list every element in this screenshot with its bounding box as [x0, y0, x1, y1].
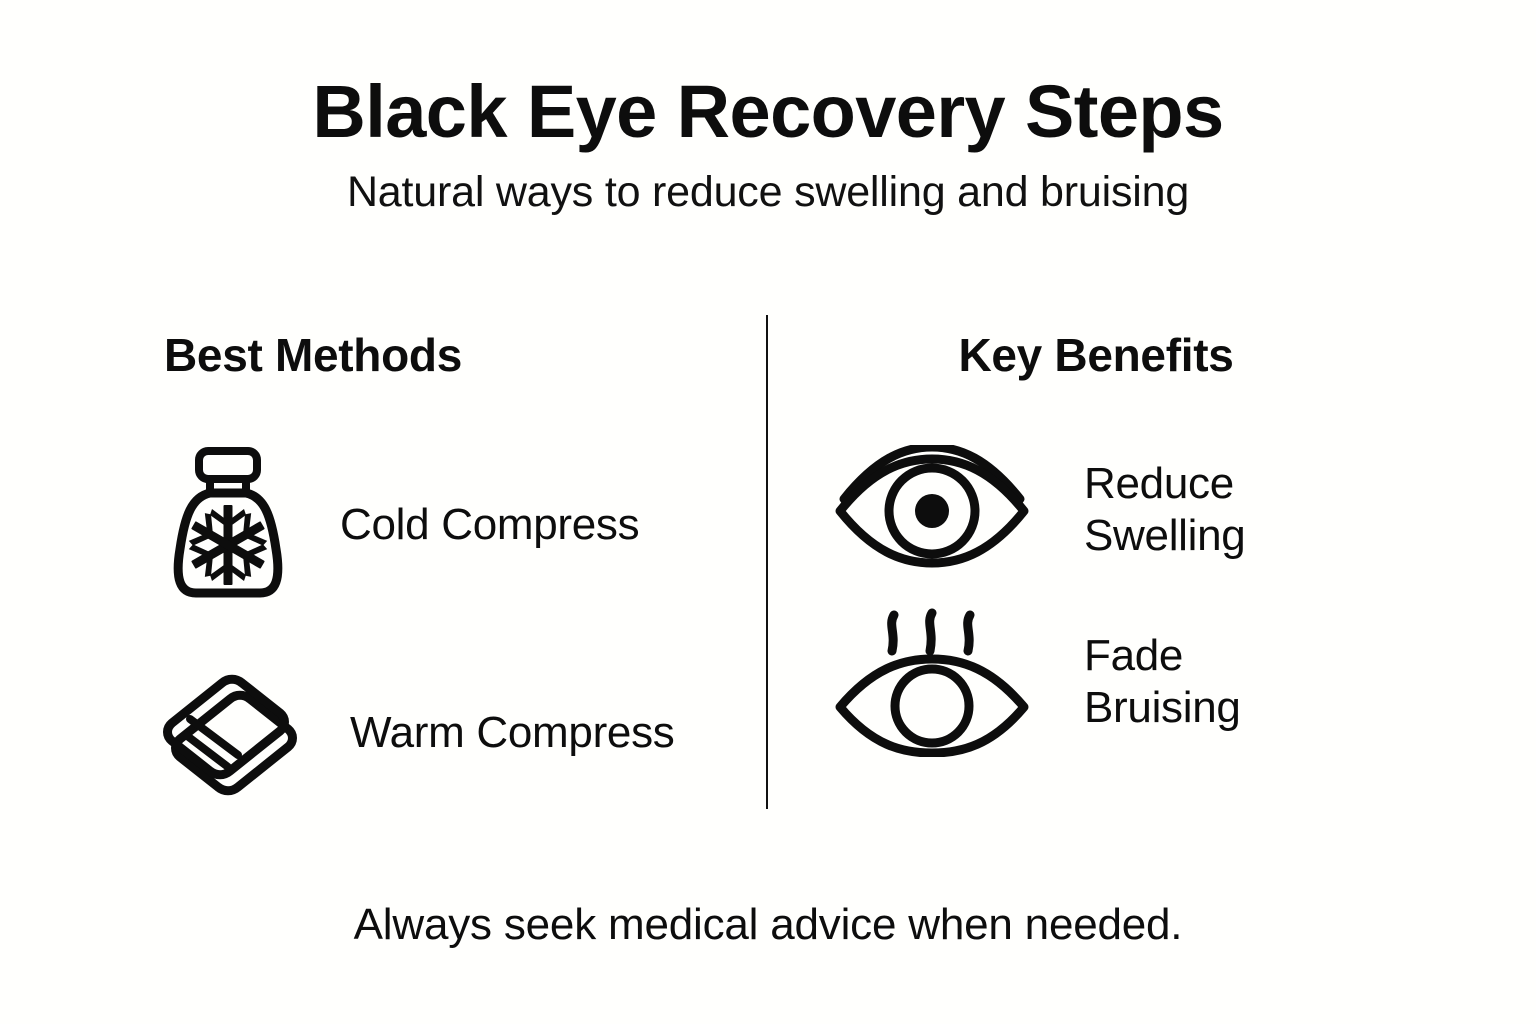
eye-lashes-icon	[832, 607, 1032, 757]
eye-open-icon	[832, 445, 1032, 575]
list-item-fade-bruising: Fade Bruising	[832, 607, 1536, 757]
list-item-label: Cold Compress	[340, 499, 639, 551]
folded-towel-icon	[158, 663, 308, 803]
list-item-label: Warm Compress	[350, 707, 675, 759]
key-benefits-list: Reduce Swelling	[766, 445, 1536, 757]
header: Black Eye Recovery Steps Natural ways to…	[0, 74, 1536, 216]
footer: Always seek medical advice when needed.	[0, 900, 1536, 950]
columns-container: Best Methods	[0, 330, 1536, 820]
list-item-label: Reduce Swelling	[1084, 458, 1314, 562]
list-item-warm-compress: Warm Compress	[158, 663, 766, 803]
column-best-methods: Best Methods	[0, 330, 766, 820]
list-item-reduce-swelling: Reduce Swelling	[832, 445, 1536, 575]
column-heading-key-benefits: Key Benefits	[766, 330, 1536, 381]
page-subtitle: Natural ways to reduce swelling and brui…	[0, 169, 1536, 216]
column-key-benefits: Key Benefits	[766, 330, 1536, 820]
ice-pack-icon	[158, 445, 298, 605]
best-methods-list: Cold Compress	[0, 445, 766, 803]
footer-disclaimer: Always seek medical advice when needed.	[0, 900, 1536, 950]
list-item-label: Fade Bruising	[1084, 630, 1314, 734]
list-item-cold-compress: Cold Compress	[158, 445, 766, 605]
infographic-poster: Black Eye Recovery Steps Natural ways to…	[0, 0, 1536, 1024]
page-title: Black Eye Recovery Steps	[0, 74, 1536, 151]
column-heading-best-methods: Best Methods	[0, 330, 766, 381]
